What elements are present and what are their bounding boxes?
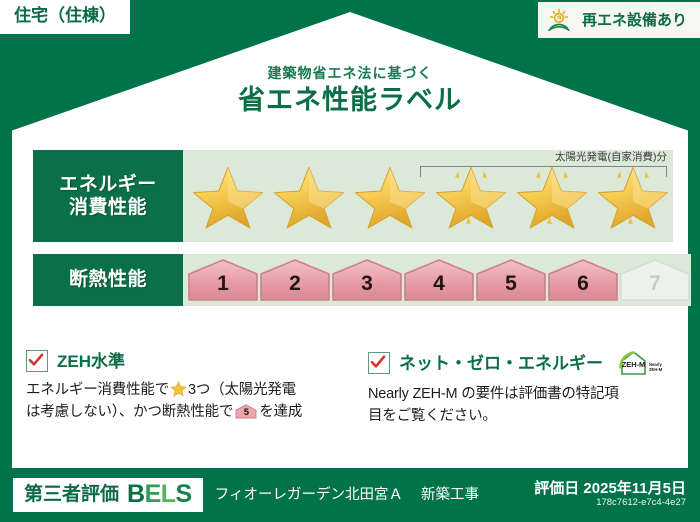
- check-icon: [370, 354, 386, 370]
- page-title: 省エネ性能ラベル: [0, 85, 700, 116]
- insulation-performance-label: 断熱性能: [33, 254, 183, 306]
- construction-type: 新築工事: [421, 487, 479, 503]
- building-name-block: フィオーレガーデン北田宮Ａ新築工事: [215, 488, 479, 503]
- insulation-level-number: 1: [217, 272, 229, 296]
- insulation-level-4: 4: [403, 258, 475, 302]
- evaluation-date: 評価日 2025年11月5日: [534, 481, 686, 498]
- insulation-level-number: 7: [649, 272, 661, 296]
- criteria-section: ZEH水準 エネルギー消費性能で3つ（太陽光発電 は考慮しない）、かつ断熱性能で…: [26, 350, 674, 428]
- zeh-standard-header: ZEH水準: [26, 350, 350, 372]
- star-4: [430, 150, 511, 242]
- evaluation-id: 178c7612-e7c4-4e27: [534, 497, 686, 509]
- inline-house-level-number: 5: [235, 406, 257, 419]
- insulation-level-number: 3: [361, 272, 373, 296]
- criterion-net-zero-energy: ネット・ゼロ・エネルギー ZEH-M Nearly ZEH-M Nearly Z…: [350, 350, 674, 428]
- zeh-standard-title: ZEH水準: [57, 353, 125, 370]
- building-type-label: 住宅（住棟）: [14, 6, 116, 25]
- renewable-energy-badge: 再エネ設備あり: [538, 2, 700, 38]
- energy-label-line2: 消費性能: [69, 196, 147, 219]
- building-type-tab: 住宅（住棟）: [0, 0, 130, 34]
- insulation-level-5: 5: [475, 258, 547, 302]
- footer-bar: 第三者評価 BELS フィオーレガーデン北田宮Ａ新築工事 評価日 2025年11…: [0, 468, 700, 522]
- insulation-level-6: 6: [547, 258, 619, 302]
- insulation-level-2: 2: [259, 258, 331, 302]
- star-3: [349, 150, 430, 242]
- star-icon: [191, 160, 265, 232]
- net-zero-title: ネット・ゼロ・エネルギー: [399, 355, 603, 372]
- insulation-level-track: 1 2: [183, 254, 691, 306]
- energy-label-line1: エネルギー: [59, 173, 157, 196]
- sun-renewable-icon: [548, 8, 574, 32]
- net-zero-header: ネット・ゼロ・エネルギー ZEH-M Nearly ZEH-M: [368, 350, 674, 376]
- title-block: 建築物省エネ法に基づく 省エネ性能ラベル: [0, 66, 700, 116]
- renewable-badge-label: 再エネ設備あり: [582, 13, 687, 28]
- inline-star-icon: [170, 381, 187, 397]
- star-1: [187, 150, 268, 242]
- star-icon: [272, 160, 346, 232]
- zeh-body-text-4: を達成: [259, 404, 302, 420]
- svg-text:ZEH-M: ZEH-M: [649, 367, 663, 372]
- zeh-standard-checkbox: [26, 350, 48, 372]
- zeh-body-text-3: は考慮しない）、かつ断熱性能で: [26, 404, 233, 420]
- insulation-level-3: 3: [331, 258, 403, 302]
- bels-en-label: BELS: [127, 482, 192, 507]
- performance-rows: エネルギー 消費性能 太陽光発電(自家消費)分: [33, 150, 667, 318]
- criterion-zeh-standard: ZEH水準 エネルギー消費性能で3つ（太陽光発電 は考慮しない）、かつ断熱性能で…: [26, 350, 350, 428]
- check-icon: [28, 352, 44, 368]
- bels-jp-label: 第三者評価: [24, 485, 119, 504]
- svg-text:ZEH-M: ZEH-M: [622, 360, 645, 369]
- net-zero-body-text-1: Nearly ZEH-M の要件は評価書の特記項: [368, 386, 619, 402]
- star-rating: [183, 150, 673, 242]
- building-name: フィオーレガーデン北田宮Ａ: [215, 487, 403, 503]
- insulation-level-7: 7: [619, 258, 691, 302]
- title-subtitle: 建築物省エネ法に基づく: [0, 66, 700, 81]
- star-icon: [353, 160, 427, 232]
- energy-star-track: 太陽光発電(自家消費)分: [183, 150, 673, 242]
- insulation-level-number: 2: [289, 272, 301, 296]
- net-zero-body: Nearly ZEH-M の要件は評価書の特記項 目をご覧ください。: [368, 383, 674, 428]
- zeh-m-logo-icon: ZEH-M Nearly ZEH-M: [618, 350, 664, 376]
- star-5: [511, 150, 592, 242]
- star-2: [268, 150, 349, 242]
- insulation-level-houses: 1 2: [183, 254, 691, 306]
- insulation-level-1: 1: [187, 258, 259, 302]
- insulation-performance-row: 断熱性能 1: [33, 254, 667, 306]
- insulation-level-number: 5: [505, 272, 517, 296]
- insulation-level-number: 6: [577, 272, 589, 296]
- label-frame: 住宅（住棟） 再エネ設備あり 建築物省エネ法に基づく 省エネ性能ラベル: [0, 0, 700, 522]
- zeh-body-text-1: エネルギー消費性能で: [26, 382, 169, 398]
- net-zero-body-text-2: 目をご覧ください。: [368, 408, 497, 424]
- star-6: [592, 150, 673, 242]
- energy-performance-label: エネルギー 消費性能: [33, 150, 183, 242]
- evaluation-info: 評価日 2025年11月5日 178c7612-e7c4-4e27: [534, 481, 686, 510]
- solar-bracket: [420, 166, 667, 177]
- bels-logo-box: 第三者評価 BELS: [13, 478, 203, 512]
- zeh-body-text-2: 3つ（太陽光発電: [188, 382, 296, 398]
- solar-annotation-label: 太陽光発電(自家消費)分: [555, 152, 667, 163]
- zeh-standard-body: エネルギー消費性能で3つ（太陽光発電 は考慮しない）、かつ断熱性能で5を達成: [26, 379, 350, 424]
- net-zero-checkbox: [368, 352, 390, 374]
- energy-performance-row: エネルギー 消費性能 太陽光発電(自家消費)分: [33, 150, 667, 242]
- insulation-label-text: 断熱性能: [69, 268, 147, 291]
- inline-house-level-icon: 5: [235, 404, 257, 419]
- insulation-level-number: 4: [433, 272, 445, 296]
